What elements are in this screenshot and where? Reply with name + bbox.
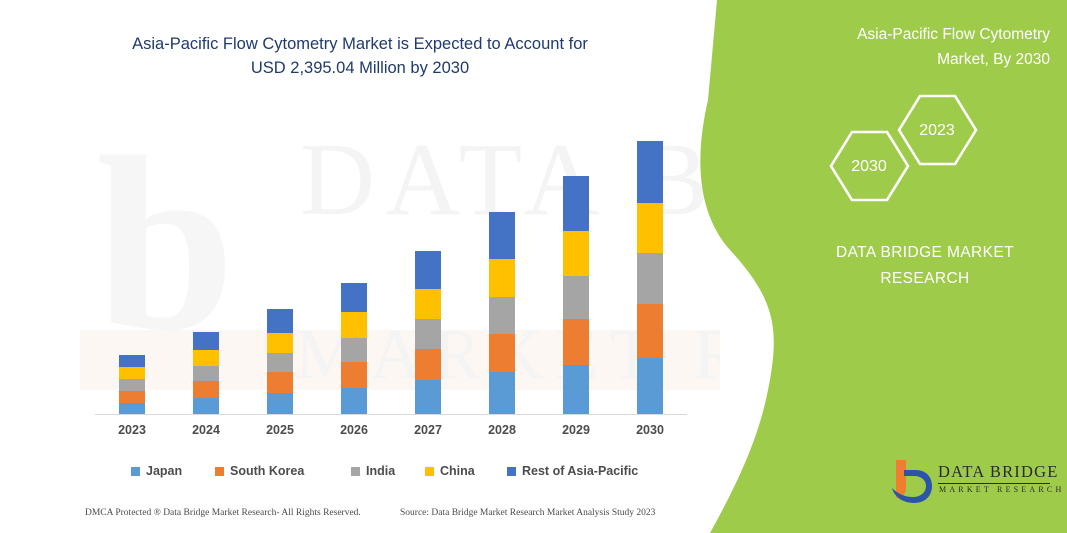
- legend-item-japan[interactable]: Japan: [131, 464, 182, 478]
- x-axis-label-2026: 2026: [324, 423, 384, 437]
- hexagon-end-label: 2023: [902, 122, 972, 140]
- footer-dmca-text: DMCA Protected ® Data Bridge Market Rese…: [85, 508, 361, 518]
- bar-segment[interactable]: [563, 276, 589, 320]
- bar-segment[interactable]: [341, 362, 367, 387]
- legend-label: Rest of Asia-Pacific: [522, 464, 638, 478]
- bar-segment[interactable]: [563, 231, 589, 276]
- hexagon-outlines: [820, 92, 990, 204]
- infographic-canvas: b DATA BRIDGE MARKET RESEARCH Asia-Pacif…: [0, 0, 1067, 533]
- bar-segment[interactable]: [193, 332, 219, 350]
- bar-segment[interactable]: [637, 358, 663, 415]
- bar-segment[interactable]: [119, 367, 145, 379]
- legend-label: Japan: [146, 464, 182, 478]
- logo-divider: [938, 483, 1050, 484]
- bar-segment[interactable]: [267, 353, 293, 372]
- legend-swatch-icon: [351, 467, 360, 476]
- bar-segment[interactable]: [267, 393, 293, 415]
- chart-title: Asia-Pacific Flow Cytometry Market is Ex…: [70, 32, 650, 80]
- bar-segment[interactable]: [489, 212, 515, 260]
- bar-segment[interactable]: [415, 349, 441, 381]
- bar-stack-2027[interactable]: [415, 251, 441, 415]
- legend-item-india[interactable]: India: [351, 464, 395, 478]
- bar-stack-2023[interactable]: [119, 355, 145, 415]
- logo-mark-icon: [890, 458, 936, 506]
- panel-title: Asia-Pacific Flow Cytometry Market, By 2…: [760, 22, 1050, 72]
- x-axis-label-2029: 2029: [546, 423, 606, 437]
- company-logo: DATA BRIDGE MARKET RESEARCH: [890, 458, 1055, 510]
- hexagon-start-label: 2030: [834, 158, 904, 176]
- x-axis-labels: 20232024202520262027202820292030: [95, 421, 687, 443]
- hexagon-pair: 2023 2030: [820, 92, 990, 204]
- panel-title-line-1: Asia-Pacific Flow Cytometry: [760, 22, 1050, 47]
- bar-segment[interactable]: [119, 379, 145, 390]
- bar-segment[interactable]: [193, 398, 219, 415]
- bar-segment[interactable]: [341, 283, 367, 312]
- bar-segment[interactable]: [415, 251, 441, 289]
- chart-legend: JapanSouth KoreaIndiaChinaRest of Asia-P…: [95, 464, 695, 486]
- brand-name-line-1: DATA BRIDGE MARKET: [800, 240, 1050, 266]
- legend-item-china[interactable]: China: [425, 464, 475, 478]
- logo-name-top: DATA BRIDGE: [938, 462, 1059, 482]
- bar-segment[interactable]: [341, 388, 367, 415]
- bar-segment[interactable]: [193, 381, 219, 397]
- bar-segment[interactable]: [489, 297, 515, 334]
- x-axis-label-2027: 2027: [398, 423, 458, 437]
- bar-segment[interactable]: [341, 312, 367, 337]
- stacked-bar-chart: [95, 110, 687, 415]
- bar-segment[interactable]: [637, 253, 663, 304]
- legend-swatch-icon: [215, 467, 224, 476]
- x-axis-label-2024: 2024: [176, 423, 236, 437]
- bar-segment[interactable]: [119, 355, 145, 367]
- bar-segment[interactable]: [193, 366, 219, 381]
- x-axis-label-2023: 2023: [102, 423, 162, 437]
- legend-item-south-korea[interactable]: South Korea: [215, 464, 304, 478]
- brand-name-line-2: RESEARCH: [800, 266, 1050, 292]
- bar-segment[interactable]: [489, 334, 515, 373]
- bar-segment[interactable]: [415, 380, 441, 415]
- bar-segment[interactable]: [267, 309, 293, 332]
- legend-swatch-icon: [425, 467, 434, 476]
- legend-swatch-icon: [131, 467, 140, 476]
- panel-title-line-2: Market, By 2030: [760, 47, 1050, 72]
- bar-segment[interactable]: [563, 176, 589, 231]
- bar-segment[interactable]: [415, 289, 441, 320]
- chart-title-line-1: Asia-Pacific Flow Cytometry Market is Ex…: [70, 32, 650, 56]
- bar-segment[interactable]: [267, 333, 293, 353]
- footer-source-text: Source: Data Bridge Market Research Mark…: [400, 508, 655, 518]
- bar-segment[interactable]: [415, 319, 441, 348]
- logo-name-bottom: MARKET RESEARCH: [939, 485, 1064, 494]
- legend-label: India: [366, 464, 395, 478]
- bar-stack-2030[interactable]: [637, 141, 663, 415]
- bar-segment[interactable]: [563, 365, 589, 415]
- bar-segment[interactable]: [563, 319, 589, 365]
- chart-title-line-2: USD 2,395.04 Million by 2030: [70, 56, 650, 80]
- bar-segment[interactable]: [119, 391, 145, 403]
- bar-segment[interactable]: [637, 141, 663, 203]
- bar-segment[interactable]: [267, 372, 293, 392]
- bar-stack-2026[interactable]: [341, 283, 367, 415]
- legend-label: China: [440, 464, 475, 478]
- bar-segment[interactable]: [637, 203, 663, 254]
- bar-segment[interactable]: [341, 338, 367, 362]
- bar-stack-2025[interactable]: [267, 309, 293, 415]
- bar-stack-2029[interactable]: [563, 176, 589, 415]
- bar-segment[interactable]: [489, 372, 515, 415]
- x-axis-label-2028: 2028: [472, 423, 532, 437]
- legend-swatch-icon: [507, 467, 516, 476]
- bar-segment[interactable]: [489, 259, 515, 297]
- bar-stack-2024[interactable]: [193, 332, 219, 415]
- legend-label: South Korea: [230, 464, 304, 478]
- bar-segment[interactable]: [637, 304, 663, 358]
- legend-item-rest-of-asia-pacific[interactable]: Rest of Asia-Pacific: [507, 464, 638, 478]
- x-axis-line: [95, 414, 687, 415]
- bar-stack-2028[interactable]: [489, 212, 515, 415]
- x-axis-label-2025: 2025: [250, 423, 310, 437]
- brand-name: DATA BRIDGE MARKET RESEARCH: [800, 240, 1050, 292]
- bar-segment[interactable]: [193, 350, 219, 366]
- x-axis-label-2030: 2030: [620, 423, 680, 437]
